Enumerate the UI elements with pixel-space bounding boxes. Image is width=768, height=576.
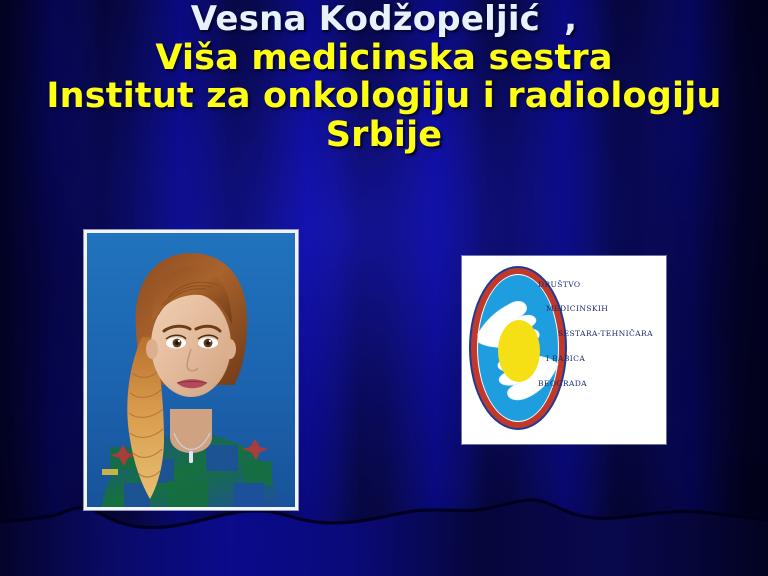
presentation-slide: Vesna Kodžopeljić , Viša medicinska sest…: [0, 0, 768, 576]
title-line-institution: Institut za onkologiju i radiologiju: [0, 79, 768, 115]
page-title: Vesna Kodžopeljić , Viša medicinska sest…: [0, 0, 768, 154]
portrait-photo: [84, 230, 298, 510]
society-logo: [462, 256, 666, 444]
title-line-name: Vesna Kodžopeljić ,: [0, 2, 768, 37]
portrait-image: [87, 233, 295, 507]
title-line-role: Viša medicinska sestra: [0, 41, 768, 77]
title-line-country: Srbije: [0, 118, 768, 154]
